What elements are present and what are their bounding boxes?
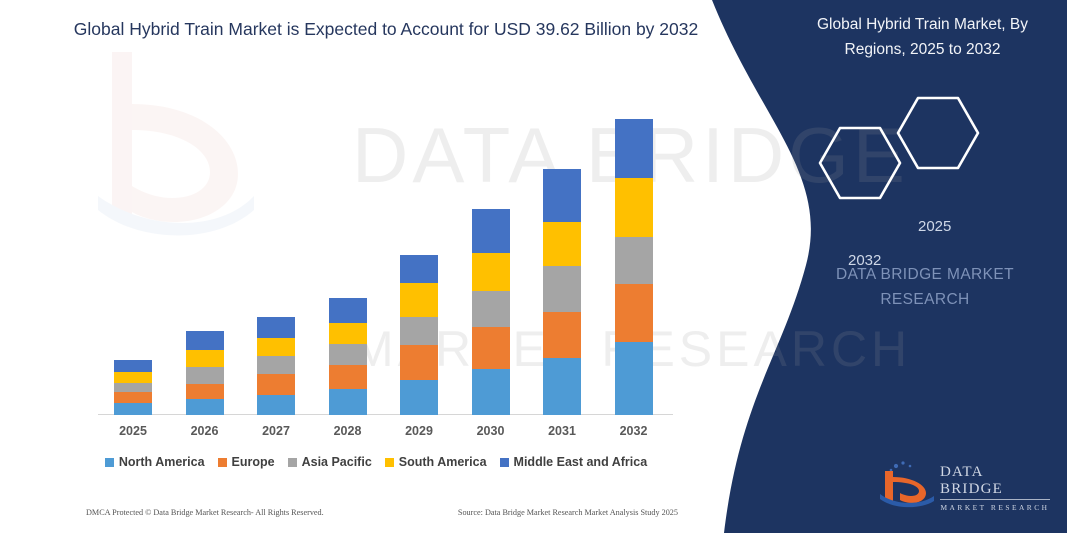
bar-segment [543, 358, 581, 415]
right-panel-title: Global Hybrid Train Market, By Regions, … [785, 12, 1060, 62]
footer: DMCA Protected © Data Bridge Market Rese… [86, 508, 678, 517]
bar-column [472, 209, 510, 415]
bar-segment [186, 384, 224, 399]
x-axis-label: 2031 [527, 424, 597, 438]
chart-legend: North AmericaEuropeAsia PacificSouth Ame… [66, 455, 686, 469]
x-axis-label: 2025 [98, 424, 168, 438]
bar-segment [257, 356, 295, 374]
brand-line-2: RESEARCH [880, 291, 969, 308]
bar-segment [114, 383, 152, 392]
bar-segment [472, 291, 510, 328]
legend-swatch-icon [385, 458, 394, 467]
legend-swatch-icon [288, 458, 297, 467]
bar-segment [329, 323, 367, 345]
bar-segment [329, 298, 367, 323]
bar-segment [472, 327, 510, 369]
hexagon-back-outline [820, 128, 900, 198]
bar-segment [615, 178, 653, 237]
bar-segment [329, 389, 367, 415]
infographic-canvas: DATA BRIDGE MARKET RESEARCH Global Hybri… [0, 0, 1067, 533]
bar-column [114, 360, 152, 415]
bar-segment [400, 283, 438, 318]
bar-column [257, 317, 295, 415]
x-axis-label: 2028 [313, 424, 383, 438]
footer-copyright: DMCA Protected © Data Bridge Market Rese… [86, 508, 324, 517]
bar-segment [186, 399, 224, 415]
bar-segment [615, 342, 653, 416]
bar-segment [114, 372, 152, 383]
legend-label: South America [399, 455, 487, 469]
logo-text: DATA BRIDGE MARKET RESEARCH [940, 464, 1050, 512]
footer-source: Source: Data Bridge Market Research Mark… [458, 508, 678, 517]
x-axis-label: 2027 [241, 424, 311, 438]
hexagon-front-outline [898, 98, 978, 168]
bar-column [329, 298, 367, 415]
bar-segment [543, 266, 581, 312]
legend-item[interactable]: South America [385, 455, 487, 469]
bar-segment [615, 284, 653, 342]
legend-label: Europe [232, 455, 275, 469]
bar-segment [257, 395, 295, 415]
bar-segment [400, 380, 438, 416]
logo-text-main: DATA BRIDGE [940, 464, 1050, 500]
bar-segment [472, 253, 510, 291]
x-axis-label: 2026 [170, 424, 240, 438]
bar-segment [329, 365, 367, 389]
legend-item[interactable]: North America [105, 455, 205, 469]
bar-segment [472, 369, 510, 415]
hexagon-badges: 2025 2032 [800, 90, 1000, 210]
x-axis-label: 2032 [599, 424, 669, 438]
bar-segment [543, 222, 581, 265]
bar-segment [114, 403, 152, 415]
bar-column [543, 169, 581, 415]
legend-swatch-icon [218, 458, 227, 467]
legend-swatch-icon [500, 458, 509, 467]
logo-text-sub: MARKET RESEARCH [940, 503, 1050, 512]
bar-segment [186, 350, 224, 368]
bar-segment [400, 345, 438, 380]
stacked-bar-chart [98, 100, 673, 415]
bar-segment [114, 360, 152, 372]
legend-label: North America [119, 455, 205, 469]
legend-swatch-icon [105, 458, 114, 467]
bar-segment [257, 338, 295, 356]
bar-segment [543, 169, 581, 222]
bar-column [186, 331, 224, 415]
bar-segment [400, 317, 438, 345]
legend-item[interactable]: Europe [218, 455, 275, 469]
brand-line-1: DATA BRIDGE MARKET [836, 266, 1014, 283]
hexagon-icons [800, 90, 1000, 210]
bar-segment [472, 209, 510, 253]
bar-segment [400, 255, 438, 282]
bar-segment [257, 317, 295, 338]
bar-segment [186, 367, 224, 384]
company-logo: DATA BRIDGE MARKET RESEARCH [878, 458, 1048, 510]
bar-segment [186, 331, 224, 350]
hex-label-front: 2025 [918, 218, 951, 235]
bar-column [615, 119, 653, 415]
bar-segment [615, 119, 653, 179]
x-axis-label: 2029 [384, 424, 454, 438]
bar-segment [543, 312, 581, 358]
bar-segment [257, 374, 295, 395]
legend-label: Asia Pacific [302, 455, 372, 469]
bar-segment [329, 344, 367, 365]
bar-segment [114, 392, 152, 403]
data-bridge-logo-icon [878, 458, 938, 508]
x-axis-label: 2030 [456, 424, 526, 438]
legend-item[interactable]: Asia Pacific [288, 455, 372, 469]
brand-name-text: DATA BRIDGE MARKET RESEARCH [790, 262, 1060, 312]
legend-label: Middle East and Africa [514, 455, 648, 469]
bar-column [400, 255, 438, 415]
legend-item[interactable]: Middle East and Africa [500, 455, 648, 469]
page-title: Global Hybrid Train Market is Expected t… [66, 16, 706, 42]
bar-segment [615, 237, 653, 284]
